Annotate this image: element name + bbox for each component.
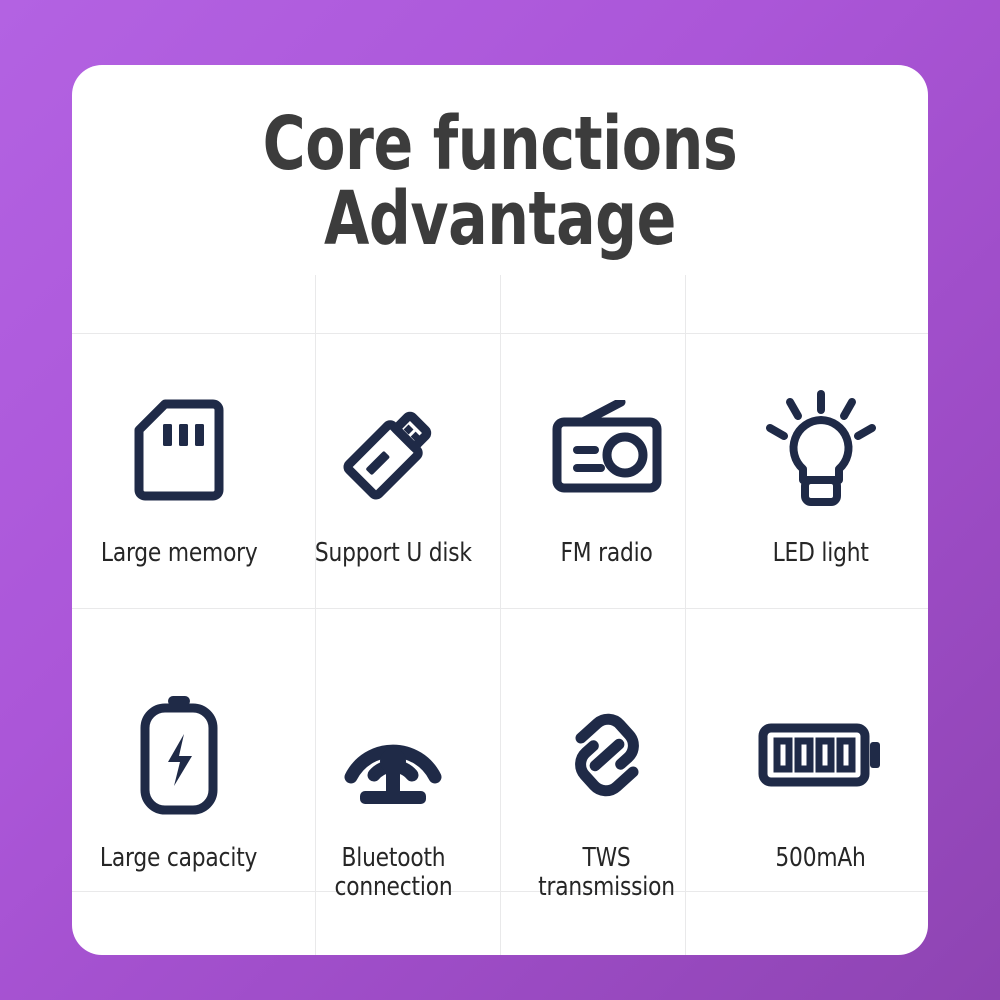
usb-flash-drive-icon [334, 375, 452, 525]
feature-cell-large-memory[interactable]: Large memory [72, 333, 286, 638]
title-line-1: Core functions [123, 107, 876, 182]
sd-card-icon [131, 375, 227, 525]
feature-label: LED light [773, 539, 869, 568]
feature-label: Large memory [101, 539, 258, 568]
feature-grid: Large memory Support U disk [72, 333, 928, 943]
title-line-2: Advantage [123, 182, 876, 257]
broadcast-tower-icon [334, 680, 452, 830]
feature-cell-bluetooth-connection[interactable]: Bluetooth connection [286, 638, 500, 943]
feature-label: Large capacity [100, 844, 257, 873]
battery-charging-icon [136, 680, 222, 830]
feature-card: Core functions Advantage Large m [72, 65, 928, 955]
chain-link-icon [549, 680, 665, 830]
feature-cell-support-u-disk[interactable]: Support U disk [286, 333, 500, 638]
feature-cell-tws-transmission[interactable]: TWS transmission [500, 638, 714, 943]
feature-label: 500mAh [776, 844, 866, 873]
feature-label: Bluetooth connection [334, 844, 452, 902]
feature-label: FM radio [561, 539, 653, 568]
feature-cell-led-light[interactable]: LED light [714, 333, 928, 638]
feature-cell-fm-radio[interactable]: FM radio [500, 333, 714, 638]
promo-poster: Core functions Advantage Large m [0, 0, 1000, 1000]
light-bulb-icon [766, 375, 876, 525]
feature-cell-500mah[interactable]: 500mAh [714, 638, 928, 943]
battery-level-icon [758, 680, 884, 830]
feature-label: Support U disk [315, 539, 472, 568]
page-title: Core functions Advantage [72, 107, 928, 258]
radio-icon [549, 375, 665, 525]
feature-label: TWS transmission [539, 844, 676, 902]
feature-cell-large-capacity[interactable]: Large capacity [72, 638, 286, 943]
